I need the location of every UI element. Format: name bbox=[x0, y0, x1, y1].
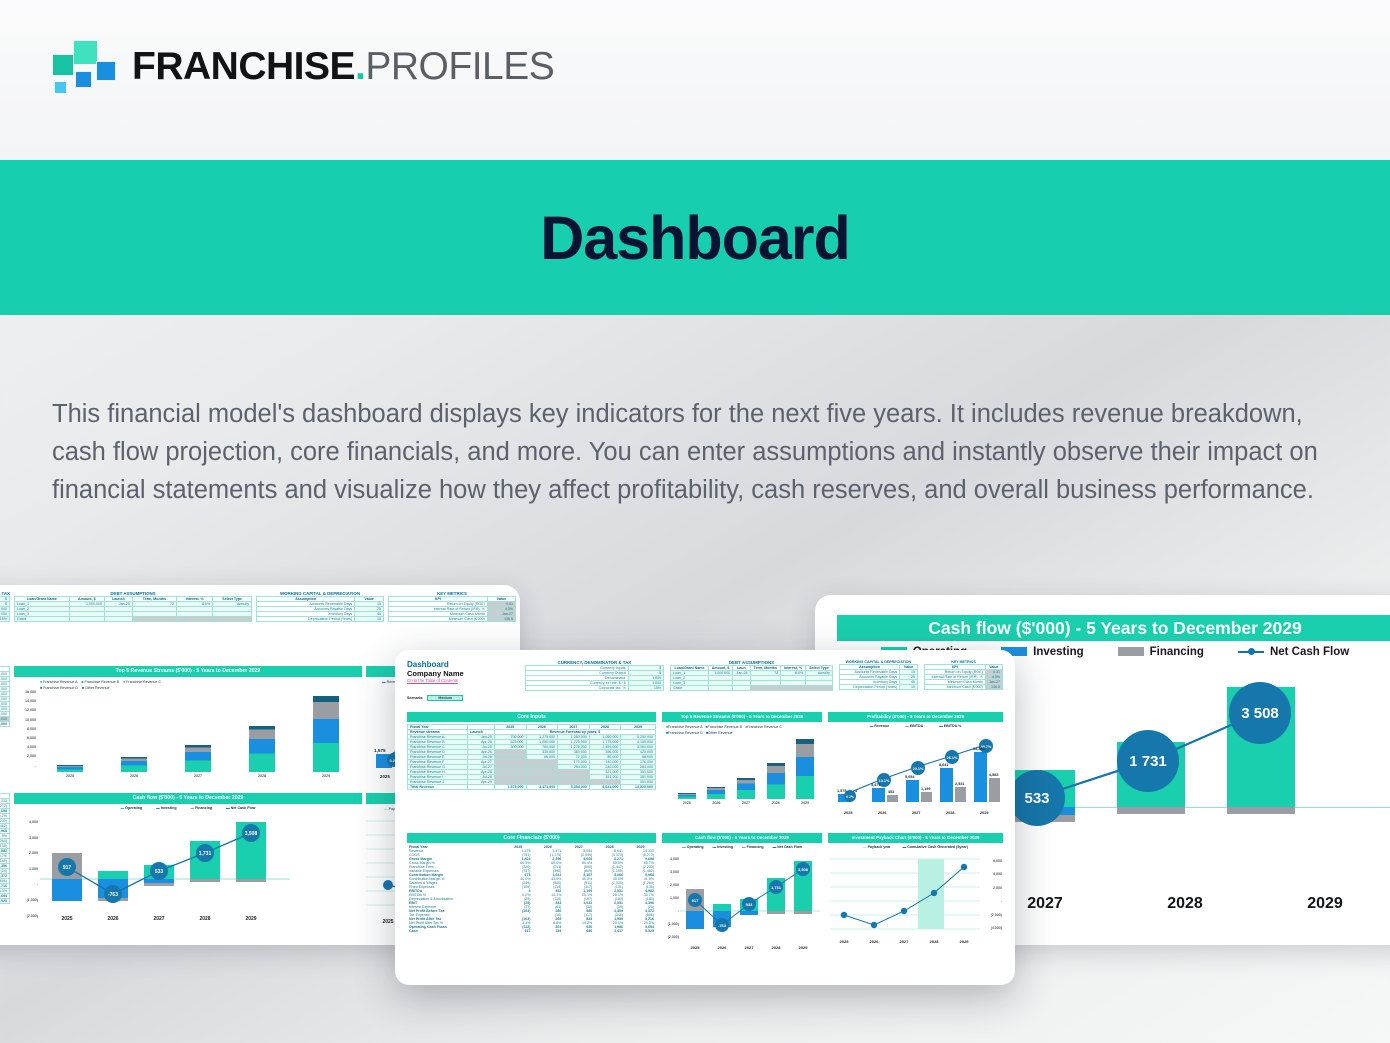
svg-text:2027: 2027 bbox=[900, 939, 910, 944]
x-tick-2029: 2029 bbox=[1255, 895, 1390, 913]
center-core-inputs-title: Core Inputs bbox=[407, 712, 656, 722]
svg-text:8,641: 8,641 bbox=[939, 763, 949, 767]
logo-square-lightblue bbox=[54, 81, 67, 94]
svg-text:2026: 2026 bbox=[870, 939, 880, 944]
table-row: 5,925 bbox=[0, 899, 10, 904]
legend-item-investing: Investing bbox=[1001, 646, 1083, 658]
svg-text:917: 917 bbox=[692, 898, 699, 903]
svg-text:2025: 2025 bbox=[691, 945, 701, 950]
svg-text:2028: 2028 bbox=[930, 939, 940, 944]
center-core-financials-title: Core Financials ($'000) bbox=[407, 833, 656, 843]
table-row: Depreciation Period (Years)10 bbox=[257, 617, 384, 622]
left-revenue-yaxis: 16,00014,00012,00010,0008,0006,0004,0002… bbox=[16, 688, 36, 771]
center-currency-table[interactable]: Currency Inputs$ Currency Output$ Denomi… bbox=[525, 665, 665, 691]
svg-text:20.1%: 20.1% bbox=[913, 767, 924, 771]
page-header: FRANCHISE.PROFILES bbox=[0, 0, 1390, 160]
svg-text:2029: 2029 bbox=[799, 945, 809, 950]
svg-text:2029: 2029 bbox=[245, 916, 256, 922]
svg-text:2027: 2027 bbox=[745, 945, 755, 950]
panel-center-full-dashboard[interactable]: Dashboard Company Name Go to the Table o… bbox=[395, 650, 1015, 985]
center-profitability-plot: 0.2% 13.1% 20.1% 26.1% 30.7% 1,575 4 3,4… bbox=[828, 732, 1003, 820]
svg-text:2025: 2025 bbox=[382, 919, 393, 925]
table-row: Corporate tax, %15% bbox=[525, 686, 664, 691]
table-row: Grant bbox=[671, 686, 833, 691]
center-scenario-select[interactable]: Medium bbox=[427, 695, 463, 701]
svg-text:2028: 2028 bbox=[946, 811, 954, 815]
brand-name-light: PROFILES bbox=[365, 45, 554, 88]
center-revenue-bars bbox=[672, 734, 820, 799]
svg-text:2028: 2028 bbox=[772, 945, 782, 950]
svg-text:2027: 2027 bbox=[912, 811, 920, 815]
svg-text:2025: 2025 bbox=[840, 939, 850, 944]
legend-item-netcashflow: Net Cash Flow bbox=[1238, 646, 1349, 658]
svg-text:1,575: 1,575 bbox=[374, 748, 386, 753]
svg-text:2028: 2028 bbox=[199, 916, 210, 922]
center-revenue-xaxis: 20252026 20272028 2029 bbox=[672, 801, 820, 805]
svg-text:2025: 2025 bbox=[61, 916, 72, 922]
svg-text:1,575: 1,575 bbox=[837, 789, 847, 793]
center-toc-link[interactable]: Go to the Table of Contents bbox=[407, 678, 519, 683]
center-cashflow-plot: 917 -763 533 1,731 3,508 2025 2026 2027 … bbox=[680, 853, 820, 957]
center-cashflow-yaxis: 4,0003,0002,0001,000-(1,000)(2,000) bbox=[663, 853, 679, 944]
center-debt-table[interactable]: Loan/Grant NameAmount, $LaunTerm, Months… bbox=[670, 665, 833, 691]
center-dashboard-title: Dashboard bbox=[407, 660, 519, 669]
left-keymetrics-table[interactable]: KPIValue Return on Equity (ROE)0.31 Inte… bbox=[388, 596, 516, 622]
svg-text:917: 917 bbox=[63, 865, 72, 871]
legend-item-financing: Financing bbox=[1118, 646, 1204, 658]
svg-text:3,508: 3,508 bbox=[798, 867, 809, 872]
center-keymetrics-table[interactable]: KPIValue Return on Equity (ROE)0.31 Inte… bbox=[924, 664, 1003, 690]
brand-name-dot: . bbox=[355, 45, 365, 88]
table-row: 14,520,000 bbox=[0, 722, 10, 727]
svg-text:2026: 2026 bbox=[107, 916, 118, 922]
table-row: Cash9171546862,4175,925 bbox=[407, 929, 656, 933]
table-row: Minimum Cash ($'000)136.5 bbox=[389, 617, 516, 622]
left-revenue-chart-title: Top 5 Revenue Streams ($'000) - 5 Years … bbox=[14, 666, 362, 677]
svg-text:3,508: 3,508 bbox=[245, 831, 258, 837]
table-row: Minimum Cash ($'000)136.5 bbox=[924, 685, 1002, 690]
swatch-financing-icon bbox=[1118, 647, 1144, 656]
center-cashflow-legend: ▬ Operating ▬ Investing ▬ Financing ▬ Ne… bbox=[662, 843, 822, 849]
value-bubble-2028: 1 731 bbox=[1117, 730, 1179, 792]
logo-squares-icon bbox=[52, 40, 110, 94]
svg-text:2026: 2026 bbox=[878, 811, 886, 815]
left-revenue-bars bbox=[38, 688, 358, 772]
center-payback-plot: 2025 2026 2027 2028 2029 bbox=[830, 853, 980, 949]
left-cashflow-yaxis: 4,0003,0002,0001,000-(1,000)(2,000) bbox=[16, 815, 38, 924]
left-cashflow-plot: 917 -763 533 1,731 3,508 2025 2026 2027 … bbox=[40, 815, 290, 927]
svg-text:2,531: 2,531 bbox=[955, 782, 965, 786]
center-wcd-table[interactable]: AssumptionValue Accounts Receivable Days… bbox=[839, 664, 918, 690]
svg-text:14,333: 14,333 bbox=[973, 747, 985, 751]
intro-paragraph: This financial model's dashboard display… bbox=[52, 395, 1337, 509]
brand-logo[interactable]: FRANCHISE.PROFILES bbox=[52, 40, 554, 94]
left-side-values-table[interactable]: 2029 5,250,000 4,150,000 3,300,000 420,0… bbox=[0, 666, 10, 727]
brand-name-bold: FRANCHISE bbox=[132, 45, 355, 88]
svg-text:1,731: 1,731 bbox=[771, 885, 782, 890]
center-payback-yaxis: 6,0004,0002,000-(2,000)(4,000) bbox=[982, 855, 1002, 935]
svg-text:1,731: 1,731 bbox=[199, 851, 212, 857]
center-revenue-chart-title: Top 5 Revenue Streams ($'000) - 5 Years … bbox=[662, 712, 822, 722]
svg-text:2026: 2026 bbox=[718, 945, 728, 950]
page-title: Dashboard bbox=[540, 203, 850, 273]
center-payback-legend: ▬ Payback year ▬ Cumulative Cash Generat… bbox=[828, 843, 1003, 849]
svg-text:-763: -763 bbox=[108, 892, 118, 898]
svg-text:1,199: 1,199 bbox=[921, 787, 931, 791]
left-debt-table[interactable]: Loan/Grant NameAmount, $LaunchTerm, Mont… bbox=[14, 596, 252, 622]
left-tax-fragment-title: & TAX bbox=[0, 591, 10, 596]
logo-square-blue-center bbox=[75, 71, 92, 88]
left-currency-fragment-table[interactable]: $ $ 1,000 1.000 15% bbox=[0, 596, 10, 622]
svg-text:2025: 2025 bbox=[380, 774, 390, 779]
svg-text:-763: -763 bbox=[718, 923, 727, 928]
svg-text:2025: 2025 bbox=[844, 811, 852, 815]
center-cashflow-chart-title: Cash flow ($'000) - 5 Years to December … bbox=[662, 833, 822, 843]
logo-square-blue-right bbox=[96, 61, 116, 81]
center-scenario-label: Scenario: bbox=[407, 696, 423, 700]
left-revenue-xaxis: 20252026 20272028 2029 bbox=[38, 774, 358, 778]
svg-text:2027: 2027 bbox=[153, 916, 164, 922]
svg-text:2029: 2029 bbox=[980, 811, 988, 815]
table-row: Total Revenue1,575,0003,471,0005,054,000… bbox=[408, 785, 656, 790]
center-wcd-title: WORKING CAPITAL & DEPRECIATION bbox=[839, 660, 918, 664]
left-core-financials-column[interactable]: 2029 14,333 (5,272) 9,698 65.7% (2,230) … bbox=[0, 793, 10, 904]
svg-text:0.2%: 0.2% bbox=[846, 795, 854, 799]
brand-wordmark: FRANCHISE.PROFILES bbox=[132, 45, 554, 89]
svg-text:533: 533 bbox=[155, 869, 164, 875]
center-core-financials-table[interactable]: Fiscal Year20252026202720282029 Revenue1… bbox=[407, 845, 656, 933]
svg-text:5,054: 5,054 bbox=[905, 775, 915, 779]
center-profitability-chart-title: Profitability ($'000) - 5 Years to Decem… bbox=[828, 712, 1003, 722]
left-wcd-table[interactable]: AssumptionValue Accounts Receivable Days… bbox=[256, 596, 384, 622]
title-banner: Dashboard bbox=[0, 160, 1390, 315]
table-row: Depreciation Period (Years)10 bbox=[839, 685, 917, 690]
left-cashflow-chart-title: Cash flow ($'000) - 5 Years to December … bbox=[14, 793, 362, 804]
logo-square-mint bbox=[73, 40, 98, 65]
screenshot-collage: & TAX $ $ 1,000 1.000 15% DEBT ASSUMPTIO… bbox=[0, 585, 1390, 1043]
center-revenue-forecast-table[interactable]: Fiscal Year20252026202720282029 Revenue … bbox=[407, 724, 656, 790]
left-cashflow-legend: ▬ Operating ▬ Investing ▬ Financing ▬ Ne… bbox=[14, 804, 362, 810]
center-profitability-legend: ▬ Revenue ▬ EBITDA ▬ EBITDA % bbox=[828, 722, 1003, 728]
center-company-name: Company Name bbox=[407, 669, 519, 678]
svg-text:452: 452 bbox=[888, 790, 894, 794]
logo-square-teal bbox=[52, 54, 74, 76]
cashflow-chart-title: Cash flow ($'000) - 5 Years to December … bbox=[837, 615, 1390, 641]
table-row: Grant bbox=[15, 617, 252, 622]
line-marker-netcashflow-icon bbox=[1238, 647, 1264, 656]
svg-text:26.1%: 26.1% bbox=[947, 756, 958, 760]
center-payback-chart-title: Investment Payback Chart ($'000) - 5 Yea… bbox=[828, 833, 1003, 843]
value-bubble-2029: 3 508 bbox=[1229, 682, 1291, 744]
svg-text:2029: 2029 bbox=[960, 939, 970, 944]
value-bubble-2027: 533 bbox=[1009, 770, 1065, 826]
svg-text:3,471: 3,471 bbox=[871, 783, 881, 787]
svg-text:4,583: 4,583 bbox=[989, 773, 999, 777]
svg-text:533: 533 bbox=[746, 902, 753, 907]
x-tick-2028: 2028 bbox=[1115, 895, 1255, 913]
